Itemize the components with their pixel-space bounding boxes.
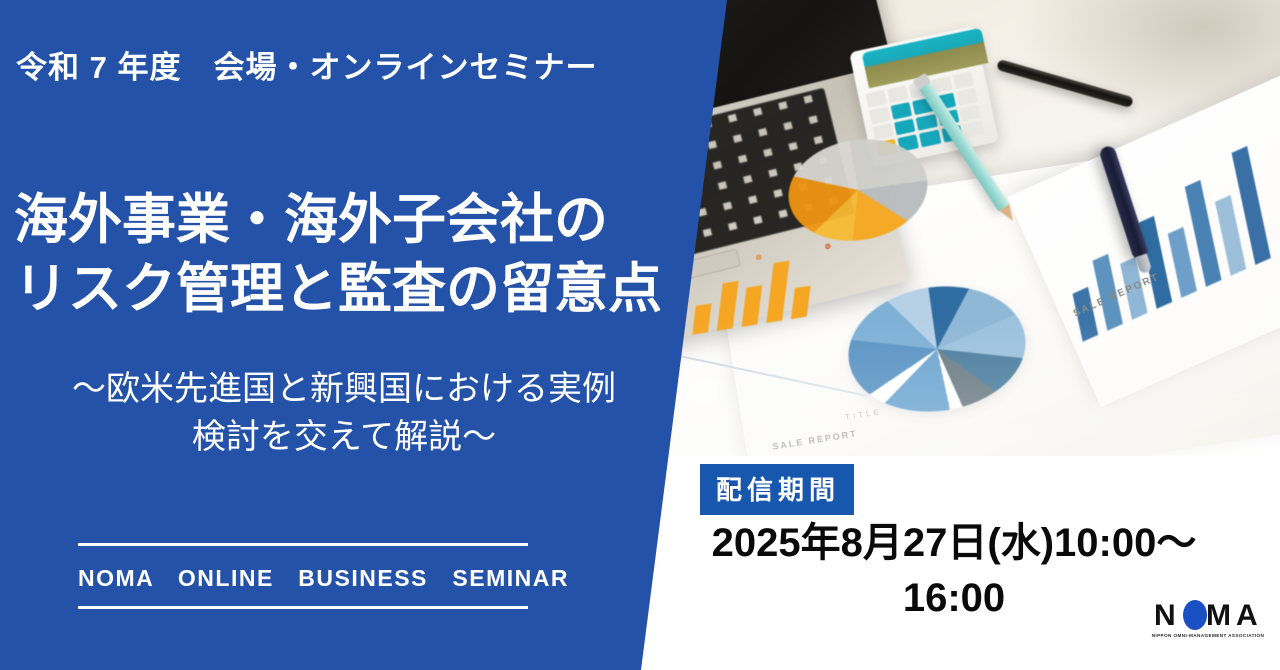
subtitle-line-2: 検討を交えて解説～ xyxy=(14,413,674,461)
seminar-brand-block: NOMA ONLINE BUSINESS SEMINAR xyxy=(78,543,528,609)
photo-vignette xyxy=(640,0,1280,456)
date-line-1: 2025年8月27日(水)10:00～ xyxy=(668,516,1240,571)
svg-text:N: N xyxy=(1154,599,1176,632)
seminar-banner: SALE REPORT SALE REPORT TITLE 令和 7 年度 会場… xyxy=(0,0,1280,670)
headline-line-1: 海外事業・海外子会社の xyxy=(14,186,674,255)
noma-logo: N M A NIPPON OMNI-MANAGEMENT ASSOCIATION xyxy=(1152,598,1264,646)
svg-text:M: M xyxy=(1206,599,1231,632)
noma-logo-subtitle: NIPPON OMNI-MANAGEMENT ASSOCIATION xyxy=(1151,633,1265,638)
headline-line-2: リスク管理と監査の留意点 xyxy=(14,255,674,324)
page-title: 海外事業・海外子会社の リスク管理と監査の留意点 xyxy=(14,186,674,324)
eyebrow-text: 令和 7 年度 会場・オンラインセミナー xyxy=(16,42,597,87)
subtitle-line-1: ～欧米先進国と新興国における実例 xyxy=(14,365,674,413)
seminar-rule-bottom xyxy=(78,606,528,609)
svg-text:A: A xyxy=(1236,599,1258,632)
seminar-brand-label: NOMA ONLINE BUSINESS SEMINAR xyxy=(78,546,528,606)
status-badge: 配信期間 xyxy=(700,464,854,515)
seminar-photo: SALE REPORT SALE REPORT TITLE xyxy=(640,0,1280,456)
subtitle: ～欧米先進国と新興国における実例 検討を交えて解説～ xyxy=(14,365,674,462)
noma-logo-mark: N M A xyxy=(1152,598,1264,632)
